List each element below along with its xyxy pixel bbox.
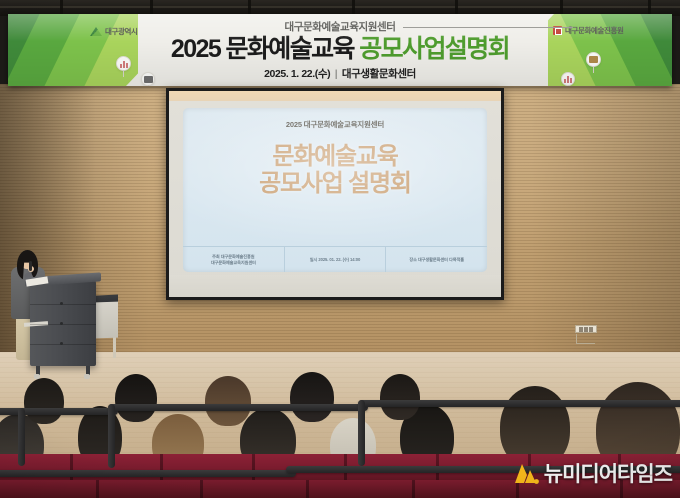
table-cloth [96, 302, 118, 339]
screen-top-band [169, 91, 501, 101]
microphone-icon [29, 261, 32, 271]
audience-head [205, 376, 251, 426]
bar-chart-badge-right-icon [561, 72, 575, 86]
mountain-triangle-icon [90, 27, 102, 36]
watermark: 뉴미디어타임즈 [513, 458, 672, 488]
slide-footer-host: 주최 대구문화예술진흥원 대구문화예술교육지원센터 [183, 247, 284, 272]
wall-notice-sign [575, 325, 597, 333]
banner-place: 대구생활문화센터 [342, 68, 416, 80]
screen-bottom-band [169, 275, 501, 297]
slide-title-line2: 공모사업 설명회 [183, 170, 487, 197]
slide-header: 2025 대구문화예술교육지원센터 [183, 119, 487, 130]
projection-screen-frame: 2025 대구문화예술교육지원센터 문화예술교육 공모사업 설명회 주최 대구문… [166, 88, 504, 300]
audience-head [24, 378, 64, 424]
event-banner: 대구광역시 대구문화예술진흥원 대구문화예술교육지원센터 [8, 14, 672, 86]
lectern-caster [84, 374, 90, 379]
handrail-post [358, 400, 365, 466]
banner-date: 2025. 1. 22.(수) [264, 68, 330, 80]
banner-title-year: 2025 [171, 35, 220, 63]
banner-title-main: 문화예술교육 [226, 35, 354, 63]
handrail [108, 404, 368, 411]
slide-footer: 주최 대구문화예술진흥원 대구문화예술교육지원센터 일시 2025. 01. 2… [183, 246, 487, 272]
watermark-text: 뉴미디어타임즈 [544, 458, 672, 488]
banner-title: 2025 문화예술교육 공모사업설명회 [148, 35, 532, 64]
banner-title-accent: 공모사업설명회 [359, 35, 509, 63]
slide-footer-datetime: 일시 2025. 01. 22. (수) 14:00 [284, 247, 386, 272]
briefcase-badge-icon [586, 52, 601, 67]
banner-text-block: 대구문화예술교육지원센터 2025 문화예술교육 공모사업설명회 2025. 1… [148, 14, 532, 86]
audience-head [380, 374, 420, 420]
bar-chart-badge-icon [116, 56, 131, 71]
slide-footer-venue: 장소 대구생활문화센터 다목적홀 [385, 247, 487, 272]
presentation-slide: 2025 대구문화예술교육지원센터 문화예술교육 공모사업 설명회 주최 대구문… [183, 108, 487, 272]
banner-subtitle: 2025. 1. 22.(수) | 대구생활문화센터 [148, 66, 532, 81]
projection-screen: 2025 대구문화예술교육지원센터 문화예술교육 공모사업 설명회 주최 대구문… [169, 91, 501, 297]
handrail-post [18, 408, 25, 466]
banner-sep: | [335, 68, 338, 80]
lectern [30, 280, 96, 366]
logo-daegu-city: 대구광역시 [90, 26, 138, 37]
audience-head [290, 372, 334, 422]
handrail [358, 400, 680, 407]
audience-head [115, 374, 157, 422]
handrail [0, 470, 296, 477]
banner-pretitle: 대구문화예술교육지원센터 [284, 19, 395, 34]
newmediatimes-n-icon [513, 461, 539, 485]
handrail-post [108, 404, 115, 468]
slide-title-line1: 문화예술교육 [183, 143, 487, 170]
slide-title: 문화예술교육 공모사업 설명회 [183, 143, 487, 197]
photograph: 대구광역시 대구문화예술진흥원 대구문화예술교육지원센터 [0, 0, 680, 498]
